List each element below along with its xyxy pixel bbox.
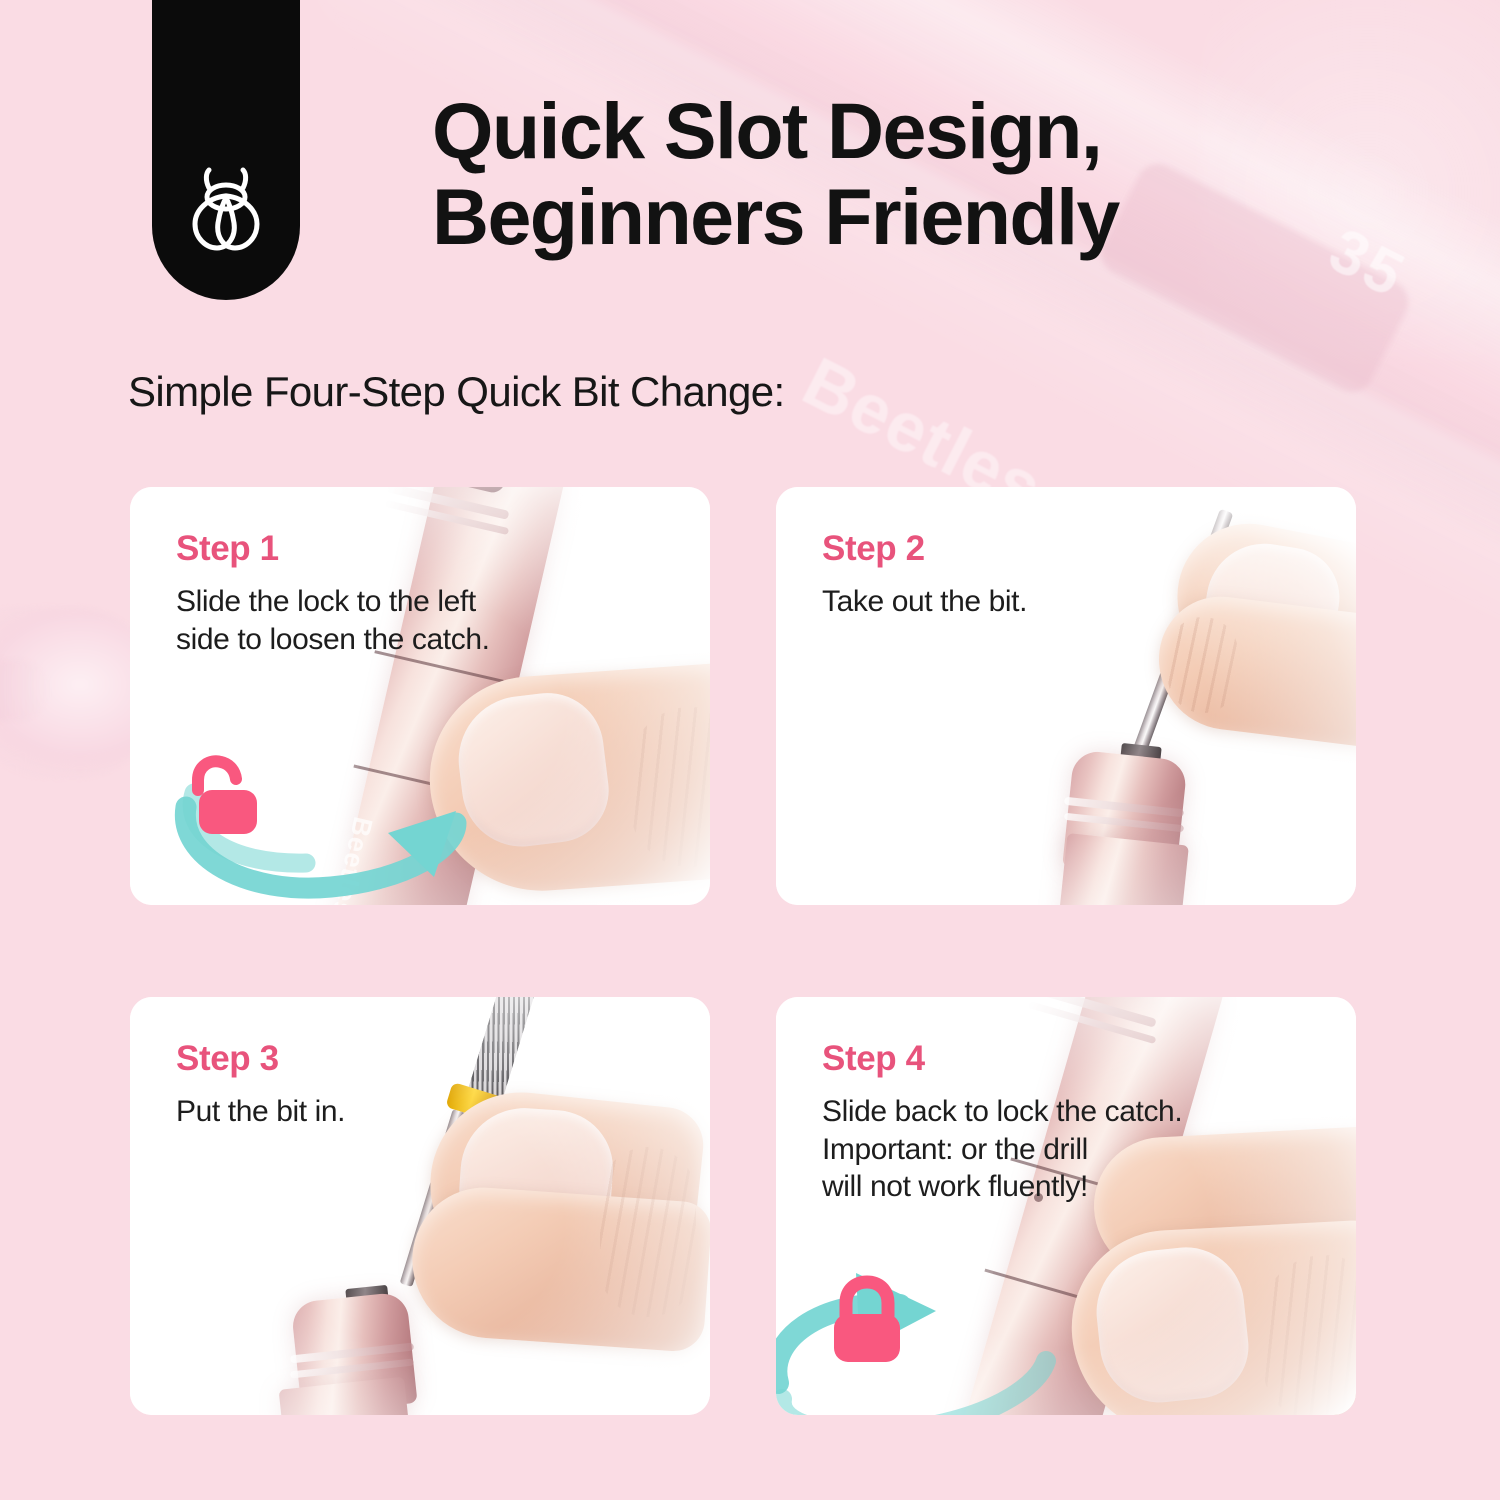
step-1-label: Step 1 [176, 529, 490, 569]
knuckle-crease [630, 707, 710, 867]
background-ghost-drill-left-cable [0, 660, 50, 720]
beetles-bug-icon [178, 166, 274, 256]
step-1-text: Step 1 Slide the lock to the left side t… [176, 529, 490, 658]
step-2-label: Step 2 [822, 529, 1027, 569]
finger-crease [600, 1147, 696, 1317]
brand-logo-tab [152, 0, 300, 300]
step-4-description: Slide back to lock the catch. Important:… [822, 1093, 1182, 1206]
padlock-closed-icon [818, 1270, 916, 1373]
nail-drill-barrel [1055, 833, 1189, 905]
page-title: Quick Slot Design, Beginners Friendly [432, 88, 1332, 260]
step-card-1: Beetles Step 1 Slide the lock to the lef… [130, 487, 710, 905]
step-card-4: Step 4 Slide back to lock the catch. Imp… [776, 997, 1356, 1415]
padlock-open-icon [172, 750, 264, 847]
page-title-line-2: Beginners Friendly [432, 174, 1332, 260]
thumb-nail [1090, 1242, 1253, 1409]
page-subtitle: Simple Four-Step Quick Bit Change: [128, 368, 785, 416]
step-3-text: Step 3 Put the bit in. [176, 1039, 345, 1131]
background-ghost-speed-value: 35 [1318, 215, 1417, 312]
step-card-3: Step 3 Put the bit in. [130, 997, 710, 1415]
step-2-text: Step 2 Take out the bit. [822, 529, 1027, 621]
knuckle-crease [1262, 1255, 1356, 1415]
step-1-description: Slide the lock to the left side to loose… [176, 583, 490, 658]
page-title-line-1: Quick Slot Design, [432, 86, 1101, 175]
step-card-2: Step 2 Take out the bit. [776, 487, 1356, 905]
finger-crease [1168, 617, 1238, 713]
step-3-label: Step 3 [176, 1039, 345, 1079]
step-4-text: Step 4 Slide back to lock the catch. Imp… [822, 1039, 1182, 1206]
step-2-description: Take out the bit. [822, 583, 1027, 621]
step-4-label: Step 4 [822, 1039, 1182, 1079]
step-3-description: Put the bit in. [176, 1093, 345, 1131]
steps-grid: Beetles Step 1 Slide the lock to the lef… [130, 487, 1356, 1415]
